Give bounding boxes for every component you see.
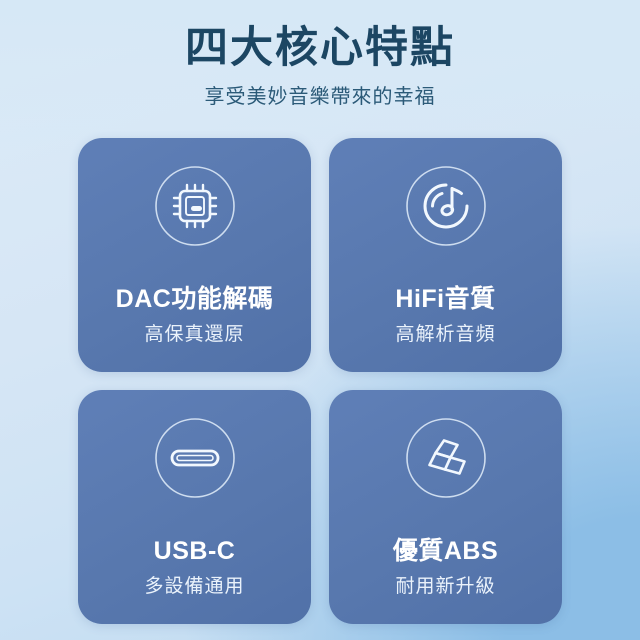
page-content: 四大核心特點 享受美妙音樂帶來的幸福 <box>0 0 640 640</box>
feature-card-usbc[interactable]: USB-C 多設備通用 <box>78 390 311 624</box>
feature-card-grid: DAC功能解碼 高保真還原 HiFi音質 高解析音頻 <box>78 138 562 618</box>
cpu-chip-icon <box>153 164 237 248</box>
feature-card-hifi[interactable]: HiFi音質 高解析音頻 <box>329 138 562 372</box>
page-subtitle: 享受美妙音樂帶來的幸福 <box>0 85 640 109</box>
feature-card-title: 優質ABS <box>393 538 498 566</box>
feature-card-title: DAC功能解碼 <box>116 286 274 314</box>
feature-card-dac[interactable]: DAC功能解碼 高保真還原 <box>78 138 311 372</box>
feature-card-subtitle: 高解析音頻 <box>395 325 495 346</box>
material-bars-icon <box>404 416 488 500</box>
feature-highlight-page: 四大核心特點 享受美妙音樂帶來的幸福 <box>0 0 640 640</box>
feature-card-subtitle: 高保真還原 <box>144 325 244 346</box>
page-title: 四大核心特點 <box>0 24 640 73</box>
usb-c-port-icon <box>153 416 237 500</box>
feature-card-subtitle: 耐用新升級 <box>395 577 495 598</box>
feature-card-subtitle: 多設備通用 <box>144 577 244 598</box>
page-header: 四大核心特點 享受美妙音樂帶來的幸福 <box>0 24 640 109</box>
music-disc-icon <box>404 164 488 248</box>
feature-card-title: USB-C <box>154 538 236 566</box>
feature-card-title: HiFi音質 <box>395 286 495 314</box>
feature-card-abs[interactable]: 優質ABS 耐用新升級 <box>329 390 562 624</box>
